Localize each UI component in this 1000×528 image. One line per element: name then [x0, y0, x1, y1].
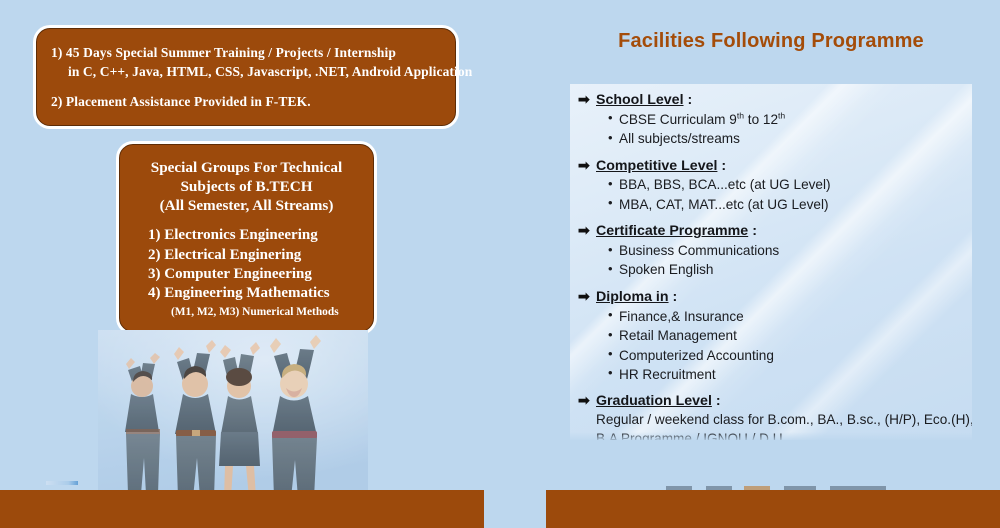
facility-group-school-level: ➡ School Level : CBSE Curriculam 9th to … [578, 92, 962, 149]
facility-item-text: Finance,& Insurance [619, 309, 744, 324]
summer-training-callout: 1) 45 Days Special Summer Training / Pro… [36, 28, 456, 126]
facility-heading-colon: : [717, 158, 726, 175]
facility-paragraph-line: Regular / weekend class for B.com., BA.,… [578, 410, 962, 429]
facility-list-item: HR Recruitment [608, 365, 962, 384]
facility-group-heading: ➡ Certificate Programme : [578, 223, 962, 240]
facility-list-item: CBSE Curriculam 9th to 12th [608, 110, 962, 129]
groups-title-line-2: Subjects of B.TECH [130, 177, 363, 196]
facility-heading-colon: : [669, 289, 678, 306]
photo-illustration [98, 330, 368, 498]
facility-paragraph-line: B.A Programme / IGNOU / D.U [578, 429, 962, 440]
facility-item-text: Business Communications [619, 243, 779, 258]
facility-item-text: All subjects/streams [619, 131, 740, 146]
facility-item-list: CBSE Curriculam 9th to 12th All subjects… [578, 110, 962, 149]
facility-list-item: Retail Management [608, 326, 962, 345]
special-groups-callout: Special Groups For Technical Subjects of… [119, 144, 374, 332]
facility-group-heading: ➡ Diploma in : [578, 289, 962, 306]
facility-item-text: CBSE Curriculam 9 [619, 112, 737, 127]
facility-heading-label: School Level [596, 92, 684, 109]
facility-group-heading: ➡ Graduation Level : [578, 393, 962, 410]
facility-heading-label: Certificate Programme [596, 223, 748, 240]
facility-item-sup-2: th [778, 110, 785, 120]
facility-item-list: BBA, BBS, BCA...etc (at UG Level) MBA, C… [578, 175, 962, 214]
facility-heading-colon: : [748, 223, 757, 240]
facility-item-text: Computerized Accounting [619, 348, 774, 363]
facility-item-text: HR Recruitment [619, 367, 716, 382]
facility-list-item: Spoken English [608, 260, 962, 279]
facility-group-diploma-in: ➡ Diploma in : Finance,& Insurance Retai… [578, 289, 962, 385]
facility-heading-colon: : [712, 393, 721, 410]
arrow-right-icon: ➡ [578, 92, 596, 106]
groups-title-line-3: (All Semester, All Streams) [130, 196, 363, 215]
groups-note: (M1, M2, M3) Numerical Methods [148, 306, 363, 318]
arrow-right-icon: ➡ [578, 223, 596, 237]
facility-group-competitive-level: ➡ Competitive Level : BBA, BBS, BCA...et… [578, 158, 962, 215]
arrow-right-icon: ➡ [578, 289, 596, 303]
facility-item-sup-1: th [737, 110, 744, 120]
decorative-artifact [46, 481, 78, 485]
groups-list: 1) Electronics Engineering 2) Electrical… [130, 226, 363, 318]
facility-item-text: Retail Management [619, 328, 737, 343]
slide-canvas: 1) 45 Days Special Summer Training / Pro… [0, 0, 1000, 528]
promo-item-1-main: 1) 45 Days Special Summer Training / Pro… [51, 43, 439, 62]
facility-group-certificate-programme: ➡ Certificate Programme : Business Commu… [578, 223, 962, 280]
facility-list-item: BBA, BBS, BCA...etc (at UG Level) [608, 175, 962, 194]
facility-list-item: Computerized Accounting [608, 346, 962, 365]
arrow-right-icon: ➡ [578, 393, 596, 407]
facility-item-list: Business Communications Spoken English [578, 241, 962, 280]
facility-group-heading: ➡ Competitive Level : [578, 158, 962, 175]
promo-item-2: 2) Placement Assistance Provided in F-TE… [51, 92, 439, 111]
arrow-right-icon: ➡ [578, 158, 596, 172]
bottom-bar-left [0, 490, 484, 528]
groups-item: 2) Electrical Enginering [148, 246, 363, 265]
bottom-bar-right [546, 490, 1000, 528]
facility-group-heading: ➡ School Level : [578, 92, 962, 109]
facility-heading-label: Graduation Level [596, 393, 712, 410]
facility-group-graduation-level: ➡ Graduation Level : Regular / weekend c… [578, 393, 962, 440]
facilities-page-title: Facilities Following Programme [570, 30, 972, 53]
facility-item-text: Spoken English [619, 262, 713, 277]
facility-heading-label: Diploma in [596, 289, 669, 306]
facility-list-item: MBA, CAT, MAT...etc (at UG Level) [608, 195, 962, 214]
groups-item: 4) Engineering Mathematics [148, 284, 363, 303]
facility-item-mid: to 12 [744, 112, 778, 127]
groups-item: 1) Electronics Engineering [148, 226, 363, 245]
facility-item-text: BBA, BBS, BCA...etc (at UG Level) [619, 177, 831, 192]
facility-list-item: Business Communications [608, 241, 962, 260]
celebrating-professionals-photo [98, 330, 368, 498]
groups-item: 3) Computer Engineering [148, 265, 363, 284]
facilities-list-panel: ➡ School Level : CBSE Curriculam 9th to … [570, 84, 972, 440]
facility-list-item: Finance,& Insurance [608, 307, 962, 326]
facility-item-list: Finance,& Insurance Retail Management Co… [578, 307, 962, 385]
promo-item-1-sub: in C, C++, Java, HTML, CSS, Javascript, … [51, 62, 439, 81]
facility-list-item: All subjects/streams [608, 129, 962, 148]
facility-heading-label: Competitive Level [596, 158, 717, 175]
groups-title: Special Groups For Technical Subjects of… [130, 158, 363, 215]
facility-heading-colon: : [684, 92, 693, 109]
facility-item-text: MBA, CAT, MAT...etc (at UG Level) [619, 197, 829, 212]
groups-title-line-1: Special Groups For Technical [130, 158, 363, 177]
